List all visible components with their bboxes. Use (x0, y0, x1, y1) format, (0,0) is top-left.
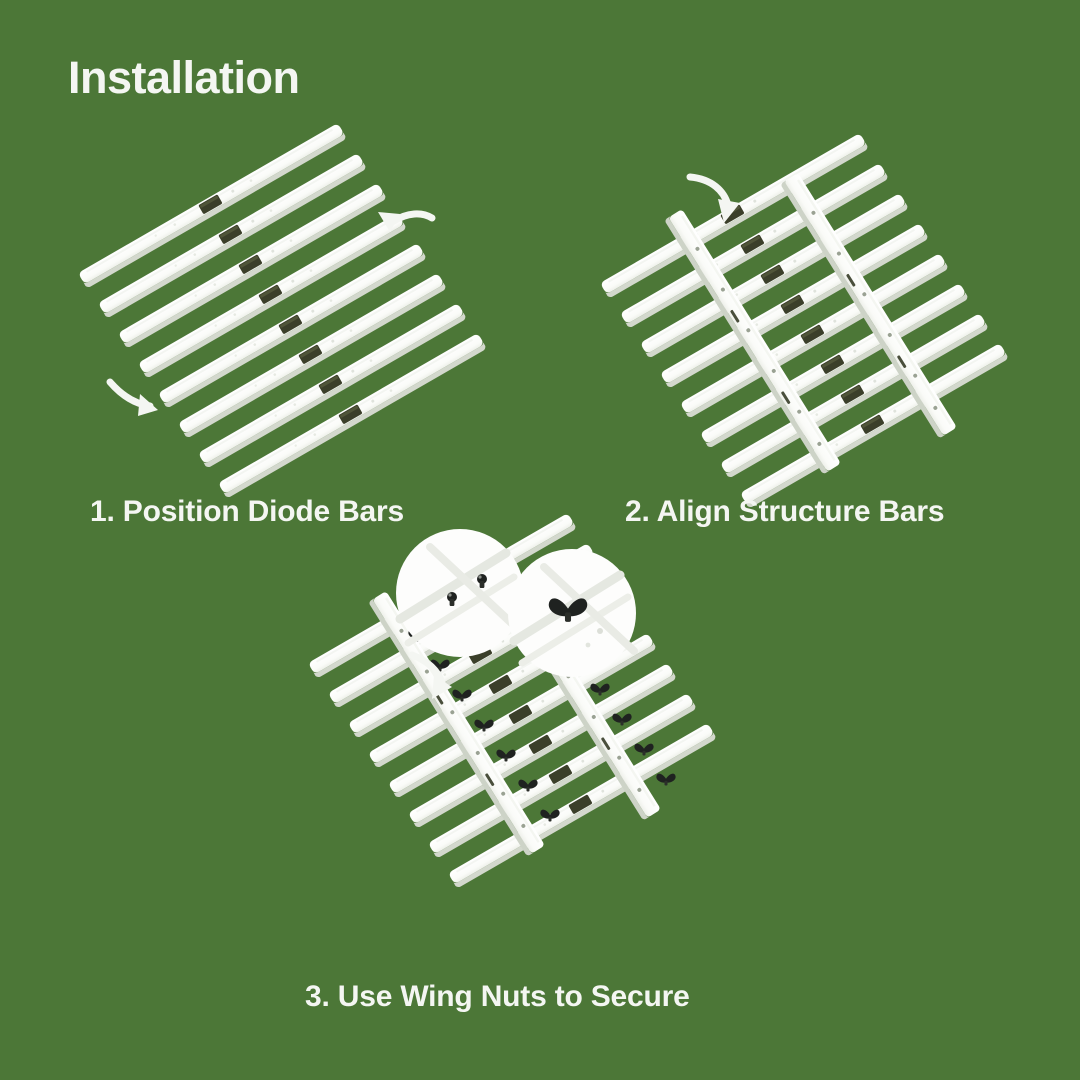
step-2-caption: 2. Align Structure Bars (625, 495, 944, 529)
callout-thumb-screws (396, 529, 524, 657)
step-1-diagram (60, 160, 460, 480)
installation-infographic: Installation (0, 0, 1080, 1080)
page-title: Installation (68, 52, 300, 104)
callout-wing-nut (508, 549, 636, 677)
diode-bar-group (78, 123, 487, 499)
step-2-diagram (590, 165, 1010, 485)
step-3-caption: 3. Use Wing Nuts to Secure (305, 980, 690, 1014)
step-3-diagram (300, 535, 790, 965)
curved-arrow-down-right-icon (110, 382, 158, 416)
step-1-caption: 1. Position Diode Bars (90, 495, 404, 529)
